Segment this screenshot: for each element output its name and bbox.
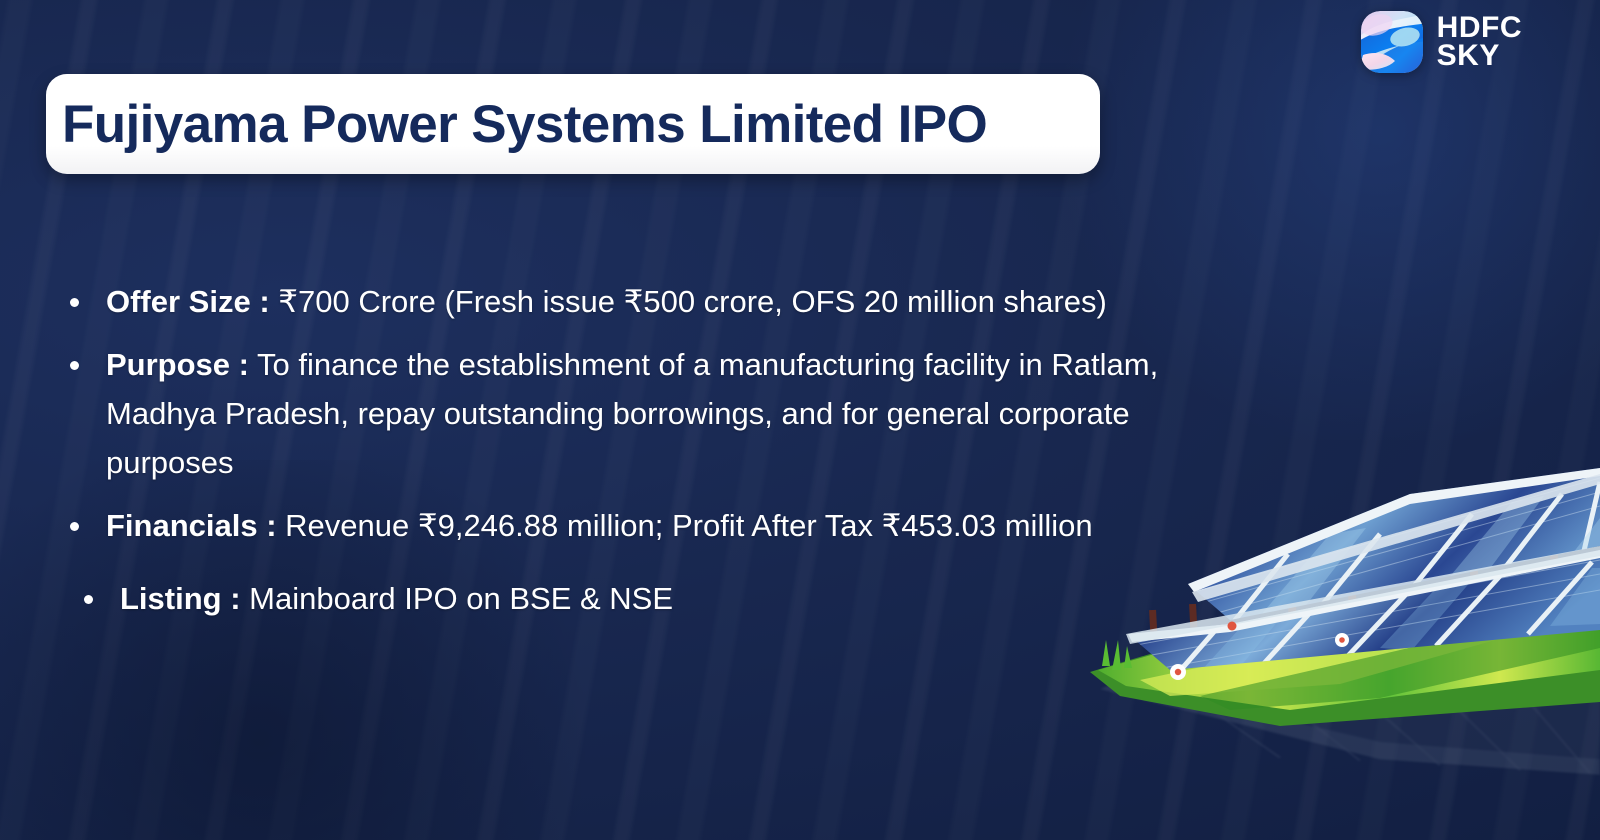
brand-logo-text: HDFC SKY xyxy=(1437,14,1522,71)
list-item: Financials : Revenue ₹9,246.88 million; … xyxy=(62,502,1172,551)
ipo-details-list: Offer Size : ₹700 Crore (Fresh issue ₹50… xyxy=(62,278,1172,638)
brand-logo: HDFC SKY xyxy=(1361,11,1522,73)
list-item-label: Purpose : xyxy=(106,347,249,382)
list-item-label: Listing : xyxy=(120,581,241,616)
list-item-label: Financials : xyxy=(106,508,277,543)
list-item-value: Mainboard IPO on BSE & NSE xyxy=(241,581,674,616)
ipo-infographic-poster: HDFC SKY Fujiyama Power Systems Limited … xyxy=(0,0,1600,840)
page-title: Fujiyama Power Systems Limited IPO xyxy=(46,94,987,155)
list-item-label: Offer Size : xyxy=(106,284,270,319)
brand-name-line2: SKY xyxy=(1437,42,1522,71)
hdfc-sky-swirl-logo-icon xyxy=(1361,11,1423,73)
title-card: Fujiyama Power Systems Limited IPO xyxy=(46,74,1100,174)
list-item: Purpose : To finance the establishment o… xyxy=(62,341,1172,488)
list-item: Listing : Mainboard IPO on BSE & NSE xyxy=(62,575,1172,624)
list-item-value: To finance the establishment of a manufa… xyxy=(106,347,1158,480)
list-item-value: ₹700 Crore (Fresh issue ₹500 crore, OFS … xyxy=(270,284,1107,319)
list-item-value: Revenue ₹9,246.88 million; Profit After … xyxy=(277,508,1093,543)
list-item: Offer Size : ₹700 Crore (Fresh issue ₹50… xyxy=(62,278,1172,327)
brand-name-line1: HDFC xyxy=(1437,14,1522,43)
